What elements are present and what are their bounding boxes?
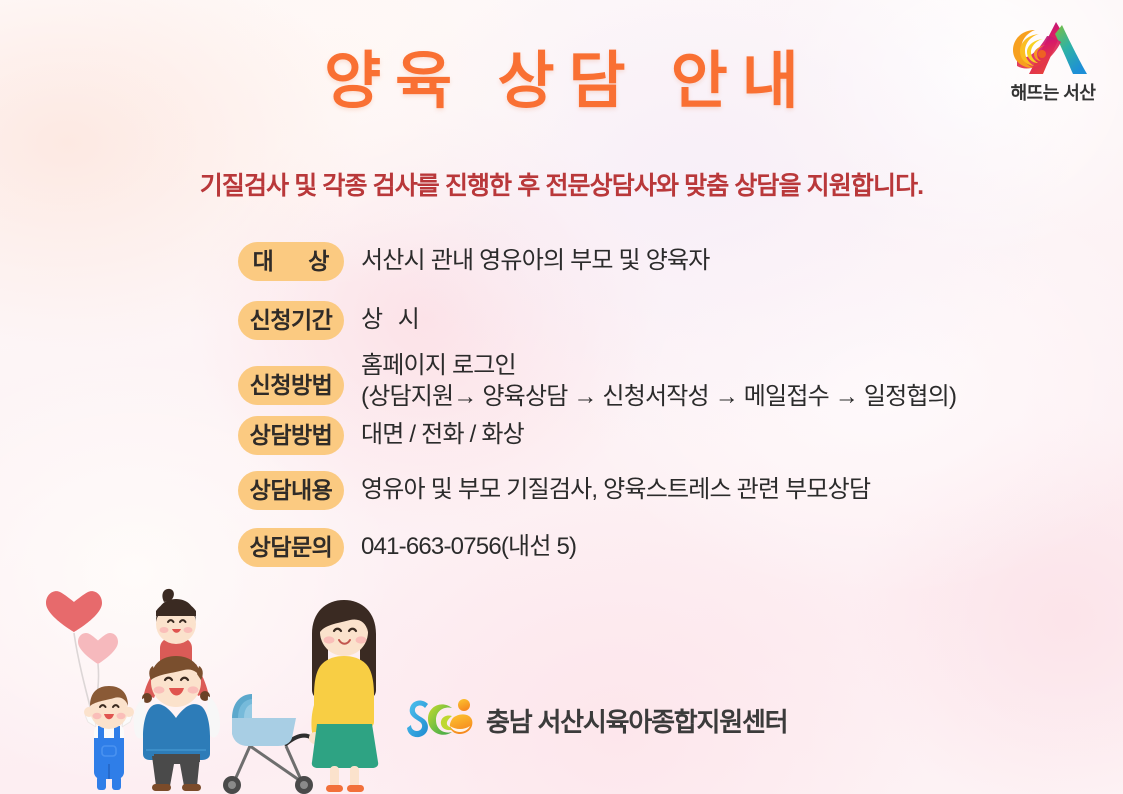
- info-value-contact: 041-663-0756(내선 5): [361, 528, 1108, 563]
- center-logo-text: 충남 서산시육아종합지원센터: [486, 702, 787, 739]
- info-row-counsel-type: 상담방법 대면 / 전화 / 화상: [238, 416, 1108, 455]
- info-value-period: 상 시: [361, 301, 1108, 336]
- info-value-counsel-content: 영유아 및 부모 기질검사, 양육스트레스 관련 부모상담: [361, 471, 1108, 506]
- center-logo: 충남 서산시육아종합지원센터: [406, 694, 787, 746]
- info-value-method: 홈페이지 로그인 (상담지원→ 양육상담 → 신청서작성 → 메일접수 → 일정…: [361, 350, 1108, 412]
- info-label-contact: 상담문의: [238, 528, 344, 567]
- boy-with-balloons-icon: [84, 686, 134, 790]
- heart-balloon-pink-icon: [78, 633, 118, 664]
- info-row-method: 신청방법 홈페이지 로그인 (상담지원→ 양육상담 → 신청서작성 → 메일접수…: [238, 350, 1108, 412]
- mother-with-stroller-icon: [309, 600, 378, 792]
- father-with-girl-icon: [134, 589, 220, 791]
- info-label-target: 대 상: [238, 242, 344, 281]
- page-subtitle: 기질검사 및 각종 검사를 진행한 후 전문상담사와 맞춤 상담을 지원합니다.: [0, 170, 1123, 203]
- sejc-child-logo-icon: [406, 694, 478, 746]
- info-value-method-line1: 홈페이지 로그인: [361, 352, 516, 379]
- info-row-period: 신청기간 상 시: [238, 301, 1108, 340]
- poster-canvas: 해뜨는 서산 양육 상담 안내 기질검사 및 각종 검사를 진행한 후 전문상담…: [0, 0, 1123, 794]
- family-illustration-svg: [34, 586, 394, 794]
- family-illustration: [34, 586, 394, 794]
- info-label-counsel-content: 상담내용: [238, 471, 344, 510]
- info-value-method-line2: (상담지원→ 양육상담 → 신청서작성 → 메일접수 → 일정협의): [361, 381, 1108, 412]
- stroller-icon: [223, 694, 313, 794]
- info-label-period: 신청기간: [238, 301, 344, 340]
- heart-balloon-red-icon: [46, 591, 102, 632]
- page-title: 양육 상담 안내: [0, 46, 1123, 117]
- info-row-target: 대 상 서산시 관내 영유아의 부모 및 양육자: [238, 242, 1108, 281]
- info-row-contact: 상담문의 041-663-0756(내선 5): [238, 528, 1108, 567]
- info-list: 대 상 서산시 관내 영유아의 부모 및 양육자 신청기간 상 시 신청방법 홈…: [238, 242, 1108, 581]
- info-value-counsel-type: 대면 / 전화 / 화상: [361, 416, 1108, 451]
- info-label-method: 신청방법: [238, 366, 344, 405]
- info-label-counsel-type: 상담방법: [238, 416, 344, 455]
- info-row-counsel-content: 상담내용 영유아 및 부모 기질검사, 양육스트레스 관련 부모상담: [238, 471, 1108, 510]
- info-value-target: 서산시 관내 영유아의 부모 및 양육자: [361, 242, 1108, 277]
